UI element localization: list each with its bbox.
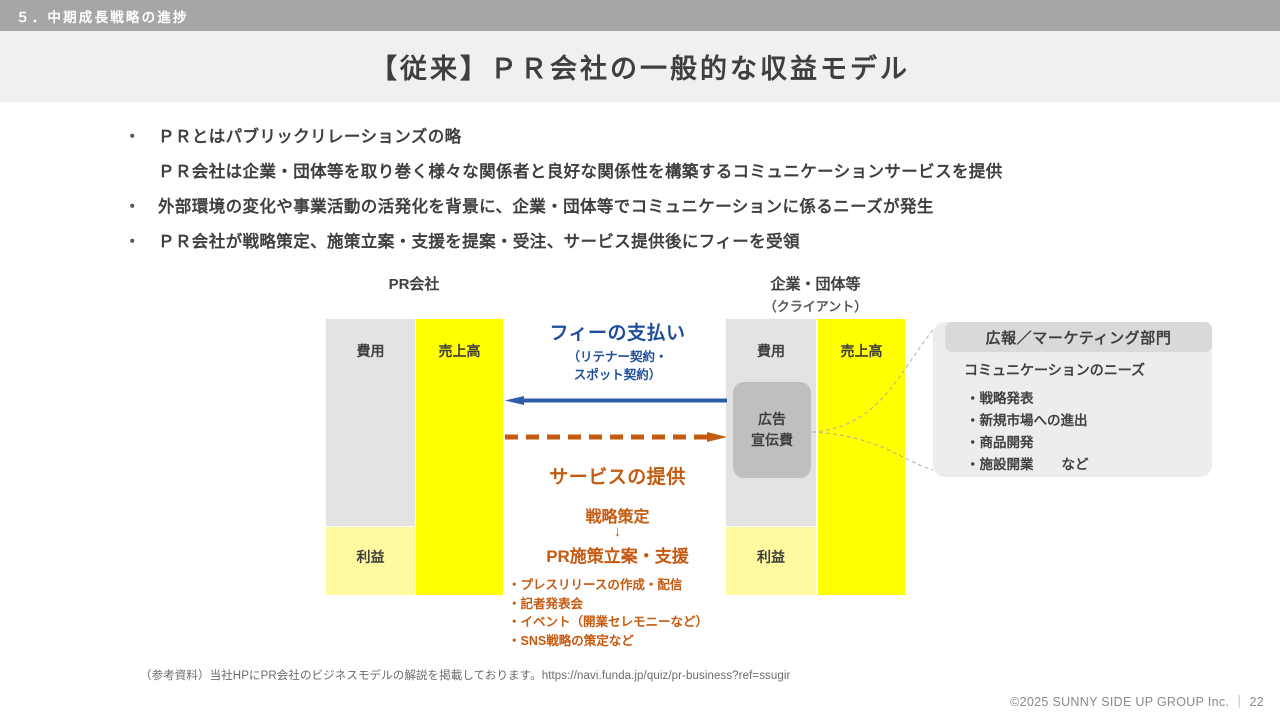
bar-label-profit: 利益 [757,527,785,595]
bar-label-profit: 利益 [357,527,385,595]
pr-company-profit-bar: 利益 [326,527,415,595]
callout-subtitle: コミュニケーションのニーズ [964,360,1145,380]
copyright-footer: ©2025 SUNNY SIDE UP GROUP Inc. ｜ 22 [1010,691,1264,710]
ad-expense-label: 広告宣伝費 [751,409,793,451]
ad-expense-box: 広告宣伝費 [733,382,811,478]
client-revenue-bar: 売上高 [818,319,905,595]
pr-company-revenue-bar: 売上高 [416,319,503,595]
pr-company-cost-bar: 費用 [326,319,415,526]
pr-measures-title: PR施策立案・支援 [505,542,730,567]
callout-etc-label: など [1034,457,1089,472]
list-item: ・新規市場への進出 [966,410,1089,432]
source-note: （参考資料）当社HPにPR会社のビジネスモデルの解説を掲載しております。http… [140,667,790,683]
fee-payment-arrow-icon [505,396,727,405]
fee-sub-line-1: （リテナー契約・ [567,350,667,364]
callout-header-label: 広報／マーケティング部門 [985,327,1171,348]
fee-payment-title: フィーの支払い [505,318,730,345]
fee-sub-line-2: スポット契約） [574,368,662,382]
pr-company-heading: PR会社 [325,273,503,294]
list-item: ・イベント（開業セレモニーなど） [508,613,748,632]
pr-measures-list: ・プレスリリースの作成・配信 ・記者発表会 ・イベント（開業セレモニーなど） ・… [508,576,748,650]
down-arrow-icon: ↓ [505,524,730,540]
bar-label-revenue: 売上高 [439,319,481,595]
bar-label-revenue: 売上高 [841,319,883,595]
list-item: ・戦略発表 [966,388,1089,410]
client-subheading: （クライアント） [726,296,905,315]
service-provision-arrow-icon [505,432,727,442]
list-item: ・商品開発 [966,432,1089,454]
list-item: ・施設開業など [966,454,1089,476]
fee-payment-subtitle: （リテナー契約・ スポット契約） [505,348,730,384]
callout-list: ・戦略発表 ・新規市場への進出 ・商品開発 ・施設開業など [966,388,1089,476]
service-provision-title: サービスの提供 [505,462,730,489]
callout-last-item: ・施設開業 [966,457,1034,472]
revenue-model-diagram: PR会社 費用 利益 売上高 企業・団体等 （クライアント） 費用 広告宣伝費 … [0,0,1280,720]
bar-label-cost: 費用 [357,319,385,526]
callout-header: 広報／マーケティング部門 [945,322,1212,352]
client-heading: 企業・団体等 [726,273,905,294]
list-item: ・SNS戦略の策定など [508,632,748,651]
list-item: ・記者発表会 [508,595,748,614]
list-item: ・プレスリリースの作成・配信 [508,576,748,595]
